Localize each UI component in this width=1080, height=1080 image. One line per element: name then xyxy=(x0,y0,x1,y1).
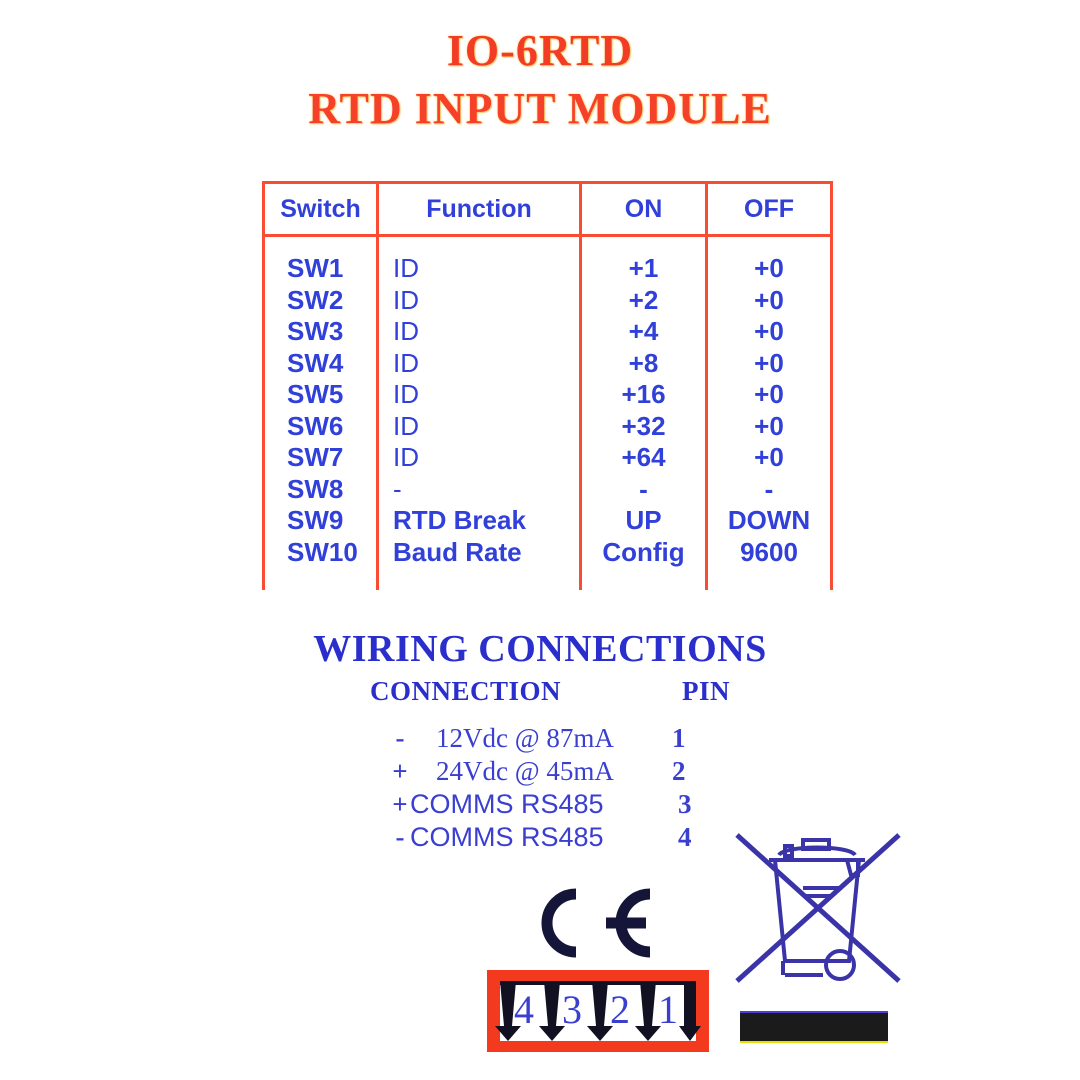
cell-function: ID xyxy=(393,411,579,443)
pin-number: 4 xyxy=(678,821,692,854)
cell-on: +1 xyxy=(582,253,705,285)
cell-off: +0 xyxy=(708,411,830,443)
cell-on: +16 xyxy=(582,379,705,411)
terminal-number: 1 xyxy=(658,987,678,1032)
connection-label: COMMS RS485 xyxy=(410,788,604,821)
polarity-sign: + xyxy=(390,788,410,821)
polarity-sign: - xyxy=(390,722,410,755)
cell-switch: SW8 xyxy=(287,474,376,506)
cell-switch: SW10 xyxy=(287,537,376,569)
cell-on: UP xyxy=(582,505,705,537)
header-connection: CONNECTION xyxy=(370,676,561,707)
header-switch: Switch xyxy=(264,183,378,236)
function-column: ID ID ID ID ID ID ID - RTD Break Baud Ra… xyxy=(378,236,581,591)
header-on: ON xyxy=(581,183,707,236)
cell-off: 9600 xyxy=(708,537,830,569)
cell-switch: SW5 xyxy=(287,379,376,411)
connection-list: - 12Vdc @ 87mA 1 + 24Vdc @ 45mA 2 + COMM… xyxy=(380,722,710,854)
ce-mark-icon xyxy=(530,884,660,962)
polarity-sign: - xyxy=(390,821,410,854)
rtd-module-label: IO-6RTD RTD INPUT MODULE Switch Function… xyxy=(0,0,1080,1080)
cell-on: +32 xyxy=(582,411,705,443)
wiring-connections-heading: WIRING CONNECTIONS xyxy=(0,627,1080,671)
connection-row: + 24Vdc @ 45mA 2 xyxy=(380,755,710,788)
connection-row: - 12Vdc @ 87mA 1 xyxy=(380,722,710,755)
on-column: +1 +2 +4 +8 +16 +32 +64 - UP Config xyxy=(581,236,707,591)
pin-number: 1 xyxy=(672,722,686,755)
pin-number: 2 xyxy=(672,755,686,788)
cell-off: +0 xyxy=(708,316,830,348)
cell-function: ID xyxy=(393,442,579,474)
switch-column: SW1 SW2 SW3 SW4 SW5 SW6 SW7 SW8 SW9 SW10 xyxy=(264,236,378,591)
terminal-number: 3 xyxy=(562,987,582,1032)
connection-label: 24Vdc @ 45mA xyxy=(436,755,614,788)
cell-on: +8 xyxy=(582,348,705,380)
cell-on: - xyxy=(582,474,705,506)
cell-switch: SW7 xyxy=(287,442,376,474)
terminal-number: 4 xyxy=(514,987,534,1032)
off-column: +0 +0 +0 +0 +0 +0 +0 - DOWN 9600 xyxy=(707,236,832,591)
cell-switch: SW2 xyxy=(287,285,376,317)
cell-function: Baud Rate xyxy=(393,537,579,569)
page-title: IO-6RTD RTD INPUT MODULE xyxy=(0,28,1080,132)
module-name: RTD INPUT MODULE xyxy=(0,86,1080,132)
weee-underline-bar xyxy=(740,1011,888,1043)
cell-function: RTD Break xyxy=(393,505,579,537)
cell-function: ID xyxy=(393,379,579,411)
connection-row: + COMMS RS485 3 xyxy=(380,788,710,821)
cell-function: ID xyxy=(393,253,579,285)
weee-crossed-bin-icon xyxy=(723,813,913,998)
header-off: OFF xyxy=(707,183,832,236)
cell-off: - xyxy=(708,474,830,506)
connection-label: 12Vdc @ 87mA xyxy=(436,722,614,755)
wiring-column-headers: CONNECTION PIN xyxy=(370,676,730,707)
cell-switch: SW4 xyxy=(287,348,376,380)
cell-switch: SW9 xyxy=(287,505,376,537)
cell-on: Config xyxy=(582,537,705,569)
header-pin: PIN xyxy=(682,676,730,707)
model-number: IO-6RTD xyxy=(0,28,1080,74)
connection-label: COMMS RS485 xyxy=(410,821,604,854)
table-body: SW1 SW2 SW3 SW4 SW5 SW6 SW7 SW8 SW9 SW10 xyxy=(264,236,832,591)
cell-function: ID xyxy=(393,348,579,380)
header-function: Function xyxy=(378,183,581,236)
cell-off: +0 xyxy=(708,285,830,317)
cell-off: +0 xyxy=(708,348,830,380)
cell-switch: SW1 xyxy=(287,253,376,285)
cell-on: +2 xyxy=(582,285,705,317)
terminal-connector-diagram: 4 3 2 1 xyxy=(487,970,709,1052)
cell-function: - xyxy=(393,474,579,506)
switch-config-table: Switch Function ON OFF SW1 SW2 SW3 SW4 S… xyxy=(262,181,833,590)
cell-off: DOWN xyxy=(708,505,830,537)
cell-on: +4 xyxy=(582,316,705,348)
terminal-number: 2 xyxy=(610,987,630,1032)
cell-function: ID xyxy=(393,285,579,317)
connection-row: - COMMS RS485 4 xyxy=(380,821,710,854)
cell-off: +0 xyxy=(708,442,830,474)
cell-switch: SW6 xyxy=(287,411,376,443)
polarity-sign: + xyxy=(390,755,410,788)
cell-function: ID xyxy=(393,316,579,348)
cell-on: +64 xyxy=(582,442,705,474)
pin-number: 3 xyxy=(678,788,692,821)
cell-switch: SW3 xyxy=(287,316,376,348)
cell-off: +0 xyxy=(708,253,830,285)
table-header-row: Switch Function ON OFF xyxy=(264,183,832,236)
cell-off: +0 xyxy=(708,379,830,411)
